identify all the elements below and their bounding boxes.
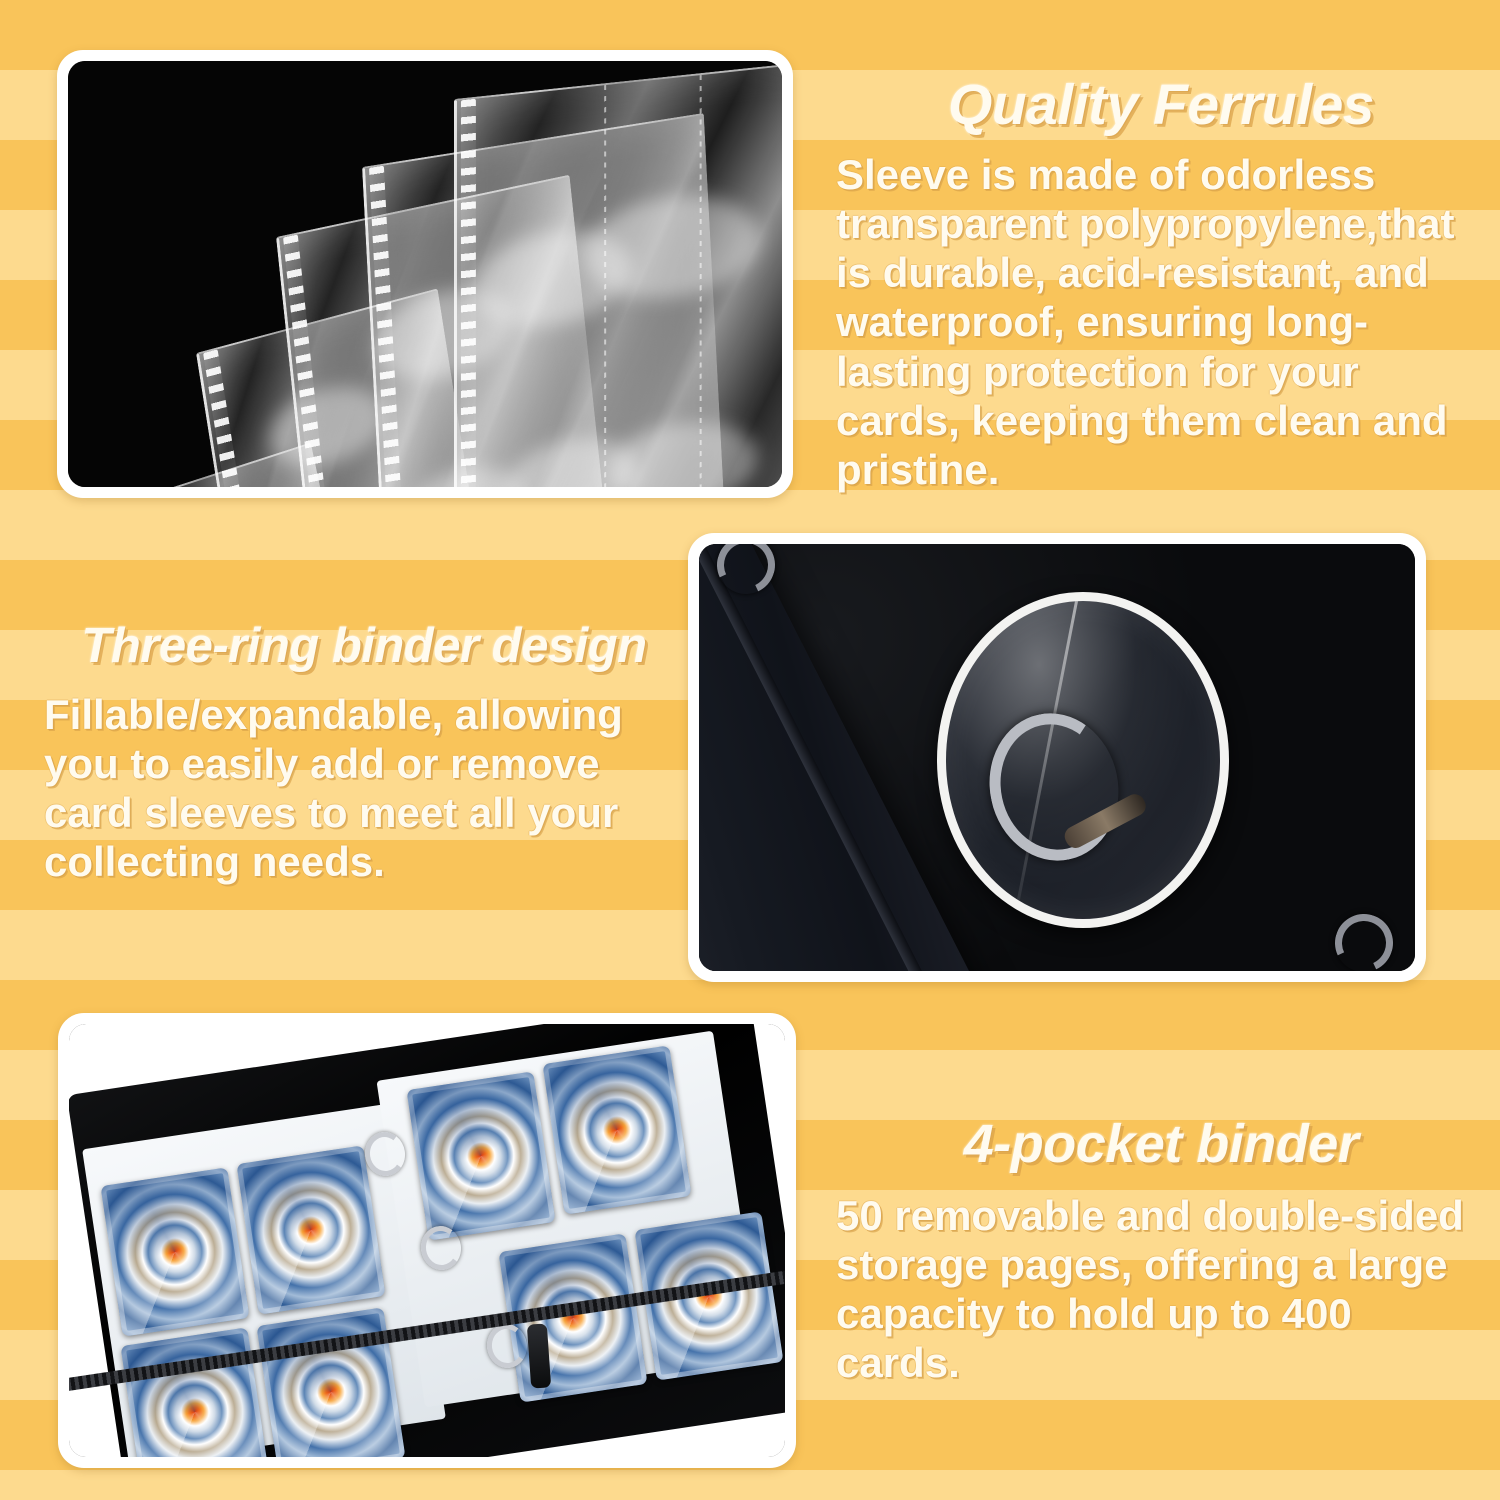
- trading-card: [406, 1071, 555, 1240]
- photo-frame-ring-mechanism: [688, 533, 1426, 982]
- card-sleeve-5: [454, 61, 782, 487]
- magnified-open-ring: [976, 701, 1132, 872]
- feature-body-quality-ferrules: Sleeve is made of odorless transparent p…: [836, 150, 1486, 494]
- feature-heading-four-pocket-binder: 4-pocket binder: [836, 1113, 1486, 1175]
- photo-open-binder: [69, 1024, 785, 1457]
- feature-block-quality-ferrules: Quality Ferrules Sleeve is made of odorl…: [836, 72, 1486, 494]
- photo-sleeves: [68, 61, 782, 487]
- photo-ring-mechanism: [699, 544, 1415, 971]
- feature-heading-three-ring-binder: Three-ring binder design: [44, 618, 684, 674]
- product-feature-collage: Quality Ferrules Sleeve is made of odorl…: [0, 0, 1500, 1500]
- photo-frame-open-binder: [58, 1013, 796, 1468]
- photo-frame-sleeves: [57, 50, 793, 498]
- feature-block-three-ring-binder: Three-ring binder design Fillable/expand…: [44, 618, 684, 887]
- trading-card: [120, 1327, 269, 1457]
- trading-card: [542, 1045, 691, 1214]
- feature-body-three-ring-binder: Fillable/expandable, allowing you to eas…: [44, 690, 684, 887]
- magnifier-lens: [937, 592, 1229, 928]
- trading-card: [236, 1145, 385, 1314]
- feature-body-four-pocket-binder: 50 removable and double-sided storage pa…: [836, 1191, 1486, 1388]
- feature-block-four-pocket-binder: 4-pocket binder 50 removable and double-…: [836, 1113, 1486, 1388]
- trading-card: [100, 1167, 249, 1336]
- feature-heading-quality-ferrules: Quality Ferrules: [836, 72, 1486, 138]
